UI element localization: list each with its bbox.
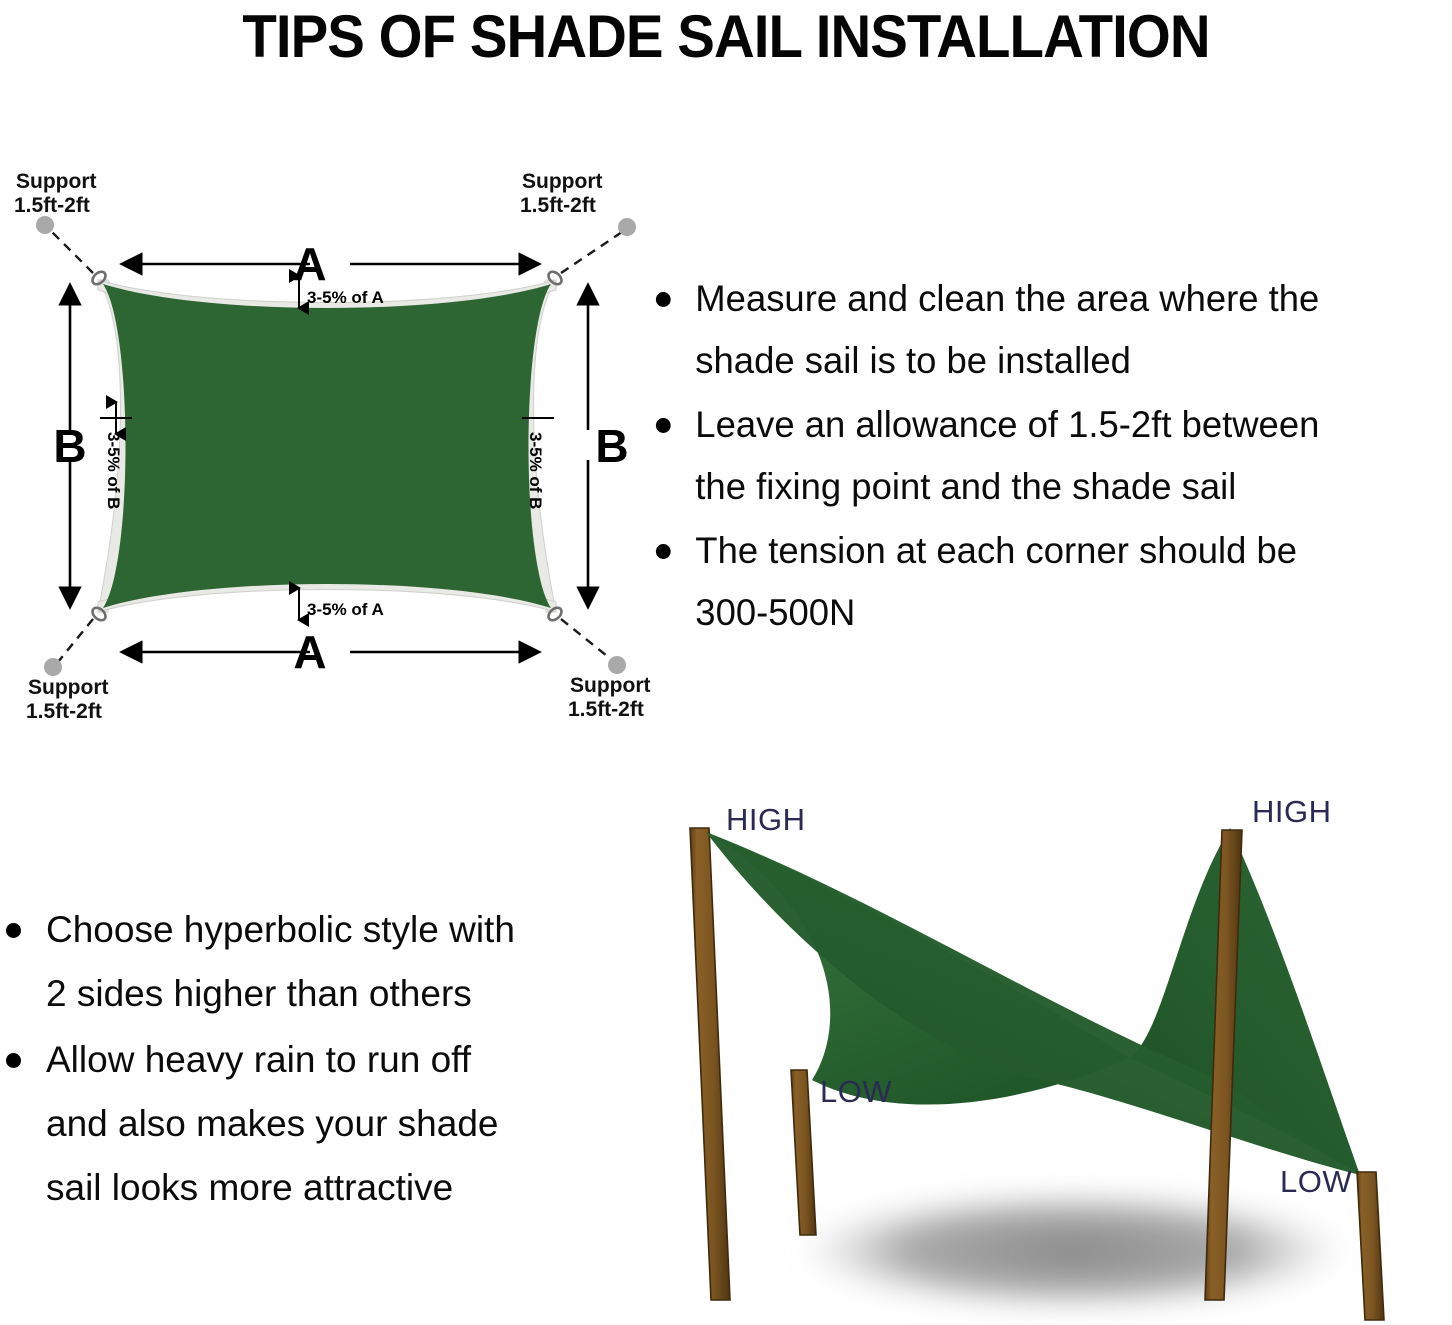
label-low-right: LOW [1280, 1164, 1352, 1199]
tip-line: Allow heavy rain to run off [46, 1039, 471, 1080]
support-label-line2: 1.5ft-2ft [568, 698, 644, 721]
list-item: Measure and clean the area where the sha… [650, 268, 1438, 392]
bullet-dot-icon [656, 292, 671, 307]
support-label-line1: Support [16, 170, 96, 193]
dimension-height-right: B [588, 286, 629, 606]
support-label-line1: Support [28, 676, 108, 699]
rectangular-sail-diagram: Support 1.5ft-2ft Support 1.5ft-2ft Supp… [0, 160, 660, 740]
label-low-left: LOW [820, 1074, 892, 1109]
ground-shadow [800, 1191, 1347, 1312]
tip-line: shade sail is to be installed [695, 340, 1131, 381]
curvature-note-right: 3-5% of B [522, 418, 554, 509]
anchor-dot-icon [618, 218, 636, 236]
hyperbolic-sail-diagram: HIGH HIGH LOW LOW [660, 780, 1452, 1325]
curvature-note-bottom: 3-5% of A [299, 588, 384, 620]
tip-line: The tension at each corner should be [695, 530, 1297, 571]
tip-line: the fixing point and the shade sail [695, 466, 1236, 507]
curvature-note-text: 3-5% of B [104, 432, 123, 509]
tip-line: sail looks more attractive [46, 1167, 453, 1208]
support-label-top-left: Support 1.5ft-2ft [14, 170, 96, 217]
tip-line: Choose hyperbolic style with [46, 909, 515, 950]
support-label-line2: 1.5ft-2ft [520, 194, 596, 217]
support-label-bottom-left: Support 1.5ft-2ft [26, 676, 108, 723]
support-label-line1: Support [570, 674, 650, 697]
dimension-width-top: A [123, 238, 538, 290]
label-high-left: HIGH [726, 802, 806, 837]
support-label-line1: Support [522, 170, 602, 193]
dimension-letter-b: B [53, 420, 86, 472]
bullet-dot-icon [656, 544, 671, 559]
dimension-letter-b: B [595, 420, 628, 472]
post-left-low [791, 1070, 816, 1235]
support-label-top-right: Support 1.5ft-2ft [520, 170, 602, 217]
dimension-letter-a: A [293, 626, 326, 678]
post-left-high [690, 828, 730, 1300]
bullet-dot-icon [6, 923, 21, 938]
support-label-bottom-right: Support 1.5ft-2ft [568, 674, 650, 721]
anchor-dot-icon [608, 656, 626, 674]
post-right-low [1357, 1172, 1384, 1320]
curvature-note-text: 3-5% of A [307, 288, 384, 307]
bullet-dot-icon [6, 1053, 21, 1068]
installation-tips-list: Measure and clean the area where the sha… [650, 268, 1450, 646]
anchor-dot-icon [36, 216, 54, 234]
dimension-height-left: B [53, 286, 86, 606]
hyperbolic-style-tips-list: Choose hyperbolic style with 2 sides hig… [0, 898, 640, 1222]
shade-sail-fabric [103, 284, 551, 608]
list-item: Allow heavy rain to run off and also mak… [0, 1028, 640, 1220]
tip-line: and also makes your shade [46, 1103, 499, 1144]
list-item: The tension at each corner should be 300… [650, 520, 1438, 644]
curvature-note-text: 3-5% of B [526, 432, 545, 509]
tip-line: Measure and clean the area where the [695, 278, 1319, 319]
tip-line: 2 sides higher than others [46, 973, 472, 1014]
infographic-page: TIPS OF SHADE SAIL INSTALLATION [0, 0, 1452, 1325]
page-title: TIPS OF SHADE SAIL INSTALLATION [44, 2, 1409, 71]
bullet-dot-icon [656, 418, 671, 433]
dimension-width-bottom: A [123, 626, 538, 678]
tip-line: Leave an allowance of 1.5-2ft between [695, 404, 1319, 445]
list-item: Leave an allowance of 1.5-2ft between th… [650, 394, 1438, 518]
support-label-line2: 1.5ft-2ft [14, 194, 90, 217]
support-label-line2: 1.5ft-2ft [26, 700, 102, 723]
anchor-dot-icon [44, 658, 62, 676]
tip-line: 300-500N [695, 592, 855, 633]
list-item: Choose hyperbolic style with 2 sides hig… [0, 898, 640, 1026]
curvature-note-text: 3-5% of A [307, 600, 384, 619]
label-high-right: HIGH [1252, 794, 1332, 829]
